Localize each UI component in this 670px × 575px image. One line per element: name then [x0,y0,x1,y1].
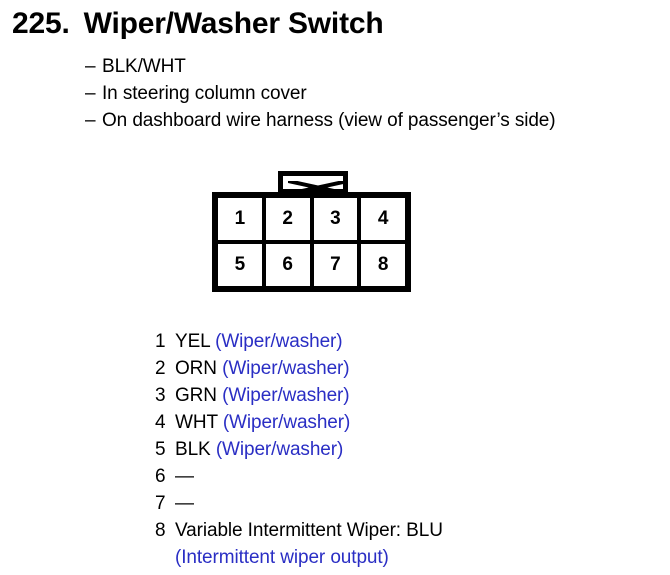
pin-row: 4 WHT (Wiper/washer) [155,412,443,439]
pin-description: (Wiper/washer) [222,358,349,379]
pin-description-continuation: (Intermittent wiper output) [155,547,443,574]
pin-cell-8: 8 [361,244,405,286]
pin-code: — [175,466,194,487]
pin-cell-6: 6 [266,244,314,286]
note-text: On dashboard wire harness (view of passe… [102,110,556,131]
pin-row: 2 ORN (Wiper/washer) [155,358,443,385]
pin-description: (Wiper/washer) [222,385,349,406]
pin-code: — [175,493,194,514]
pin-grid-row-bottom: 5 6 7 8 [218,244,405,286]
pin-cell-3: 3 [314,198,362,240]
pin-label: GRN (Wiper/washer) [175,385,350,407]
diagram-page: 225.Wiper/Washer Switch –BLK/WHT –In ste… [0,0,670,575]
pin-description: (Wiper/washer) [223,412,350,433]
pin-code: BLK [175,439,211,460]
note-dash: – [85,53,102,80]
note-text: In steering column cover [102,83,307,104]
note-dash: – [85,107,102,134]
pin-row: 1 YEL (Wiper/washer) [155,331,443,358]
pin-label: — [175,493,194,515]
pin-row: 5 BLK (Wiper/washer) [155,439,443,466]
pin-legend: 1 YEL (Wiper/washer) 2 ORN (Wiper/washer… [155,331,443,574]
pin-row: 8 Variable Intermittent Wiper: BLU [155,520,443,547]
pin-number: 4 [155,412,175,434]
pin-row: 6 — [155,466,443,493]
pin-cell-4: 4 [361,198,405,240]
pin-number: 1 [155,331,175,353]
pin-number: 2 [155,358,175,380]
note-dash: – [85,80,102,107]
connector-diagram: 1 2 3 4 5 6 7 8 [212,171,411,292]
pin-description: (Wiper/washer) [215,331,342,352]
pin-number: 5 [155,439,175,461]
connector-locking-tab [278,171,348,194]
pin-cell-5: 5 [218,244,266,286]
connector-pin-grid: 1 2 3 4 5 6 7 8 [212,192,411,292]
pin-label: YEL (Wiper/washer) [175,331,343,353]
pin-label: BLK (Wiper/washer) [175,439,343,461]
entry-title: Wiper/Washer Switch [84,7,384,40]
pin-code: Variable Intermittent Wiper: BLU [175,520,443,541]
pin-number: 3 [155,385,175,407]
note-line: –On dashboard wire harness (view of pass… [85,107,665,134]
pin-label: WHT (Wiper/washer) [175,412,350,434]
entry-number: 225. [12,7,70,40]
pin-number: 7 [155,493,175,515]
pin-code: WHT [175,412,218,433]
pin-grid-row-top: 1 2 3 4 [218,198,405,244]
pin-label: Variable Intermittent Wiper: BLU [175,520,443,542]
pin-cell-7: 7 [314,244,362,286]
pin-row: 7 — [155,493,443,520]
pin-number: 8 [155,520,175,542]
note-text: BLK/WHT [102,56,186,77]
pin-number: 6 [155,466,175,488]
pin-label: ORN (Wiper/washer) [175,358,350,380]
pin-label: — [175,466,194,488]
pin-code: GRN [175,385,217,406]
pin-description: (Wiper/washer) [216,439,343,460]
pin-cell-1: 1 [218,198,266,240]
notes-list: –BLK/WHT –In steering column cover –On d… [85,53,665,134]
pin-cell-2: 2 [266,198,314,240]
pin-code: YEL [175,331,210,352]
pin-code: ORN [175,358,217,379]
note-line: –BLK/WHT [85,53,665,80]
page-title: 225.Wiper/Washer Switch [12,6,383,42]
note-line: –In steering column cover [85,80,665,107]
pin-row: 3 GRN (Wiper/washer) [155,385,443,412]
